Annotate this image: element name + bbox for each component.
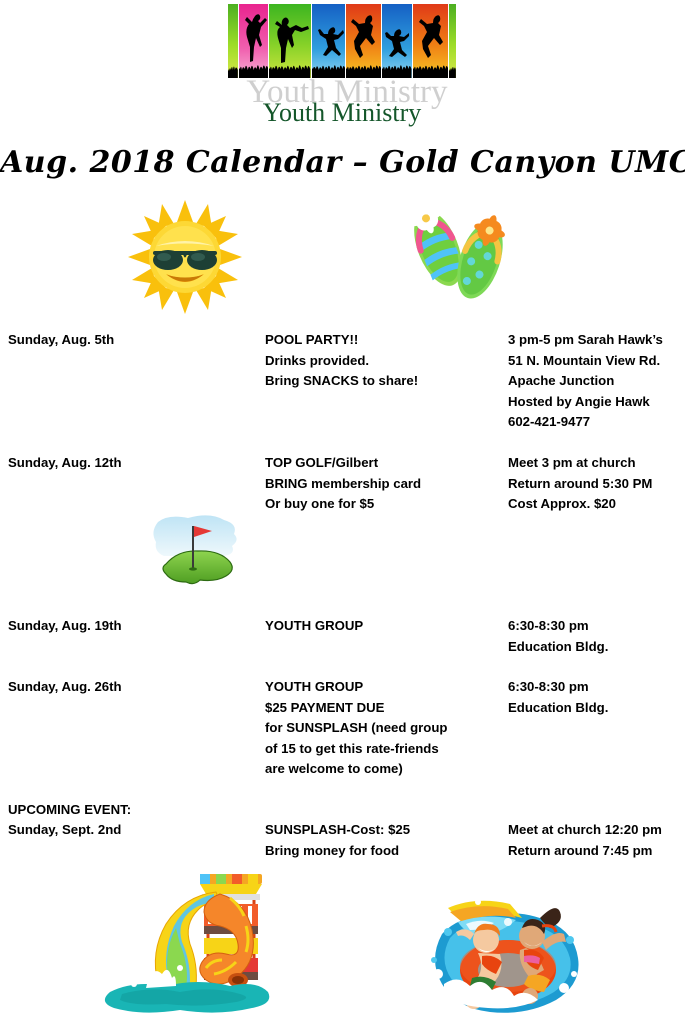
event-info: Meet 3 pm at church Return around 5:30 P… (508, 453, 685, 515)
logo-panel-7 (413, 4, 448, 78)
kids-on-inner-tube-icon (414, 878, 596, 1018)
logo-panel-5 (346, 4, 381, 78)
event-info: 3 pm-5 pm Sarah Hawk’s 51 N. Mountain Vi… (508, 330, 685, 433)
event-info: 6:30-8:30 pm Education Bldg. (508, 616, 685, 657)
page-title: Aug. 2018 Calendar – Gold Canyon UMC (0, 145, 685, 180)
sun-with-sunglasses-icon (126, 198, 244, 316)
event-description: TOP GOLF/Gilbert BRING membership card O… (265, 453, 500, 515)
event-date: Sunday, Aug. 19th (8, 616, 258, 637)
upcoming-event-label: UPCOMING EVENT: (8, 800, 131, 821)
logo-panel-1 (228, 4, 238, 78)
water-slide-icon (88, 868, 274, 1020)
logo-panel-6 (382, 4, 411, 78)
event-description: POOL PARTY!! Drinks provided. Bring SNAC… (265, 330, 500, 392)
event-date: Sunday, Sept. 2nd (8, 820, 258, 841)
calendar-page: Youth Ministry Youth Ministry Aug. 2018 … (0, 0, 685, 1024)
event-info: Meet at church 12:20 pm Return around 7:… (508, 820, 685, 861)
flip-flops-icon (390, 198, 520, 308)
event-info: 6:30-8:30 pm Education Bldg. (508, 677, 685, 718)
event-description: SUNSPLASH-Cost: $25 Bring money for food (265, 820, 500, 861)
logo-panel-8 (449, 4, 456, 78)
youth-ministry-logo: Youth Ministry Youth Ministry (228, 4, 456, 132)
logo-wordmark-text: Youth Ministry (228, 98, 456, 128)
event-description: YOUTH GROUP $25 PAYMENT DUE for SUNSPLAS… (265, 677, 500, 780)
logo-panel-3 (269, 4, 310, 78)
logo-panel-4 (312, 4, 345, 78)
golf-green-icon (148, 512, 244, 590)
event-date: Sunday, Aug. 26th (8, 677, 258, 698)
event-date: Sunday, Aug. 12th (8, 453, 258, 474)
logo-color-panels (228, 4, 456, 78)
event-date: Sunday, Aug. 5th (8, 330, 258, 351)
event-description: YOUTH GROUP (265, 616, 500, 637)
logo-panel-2 (239, 4, 268, 78)
